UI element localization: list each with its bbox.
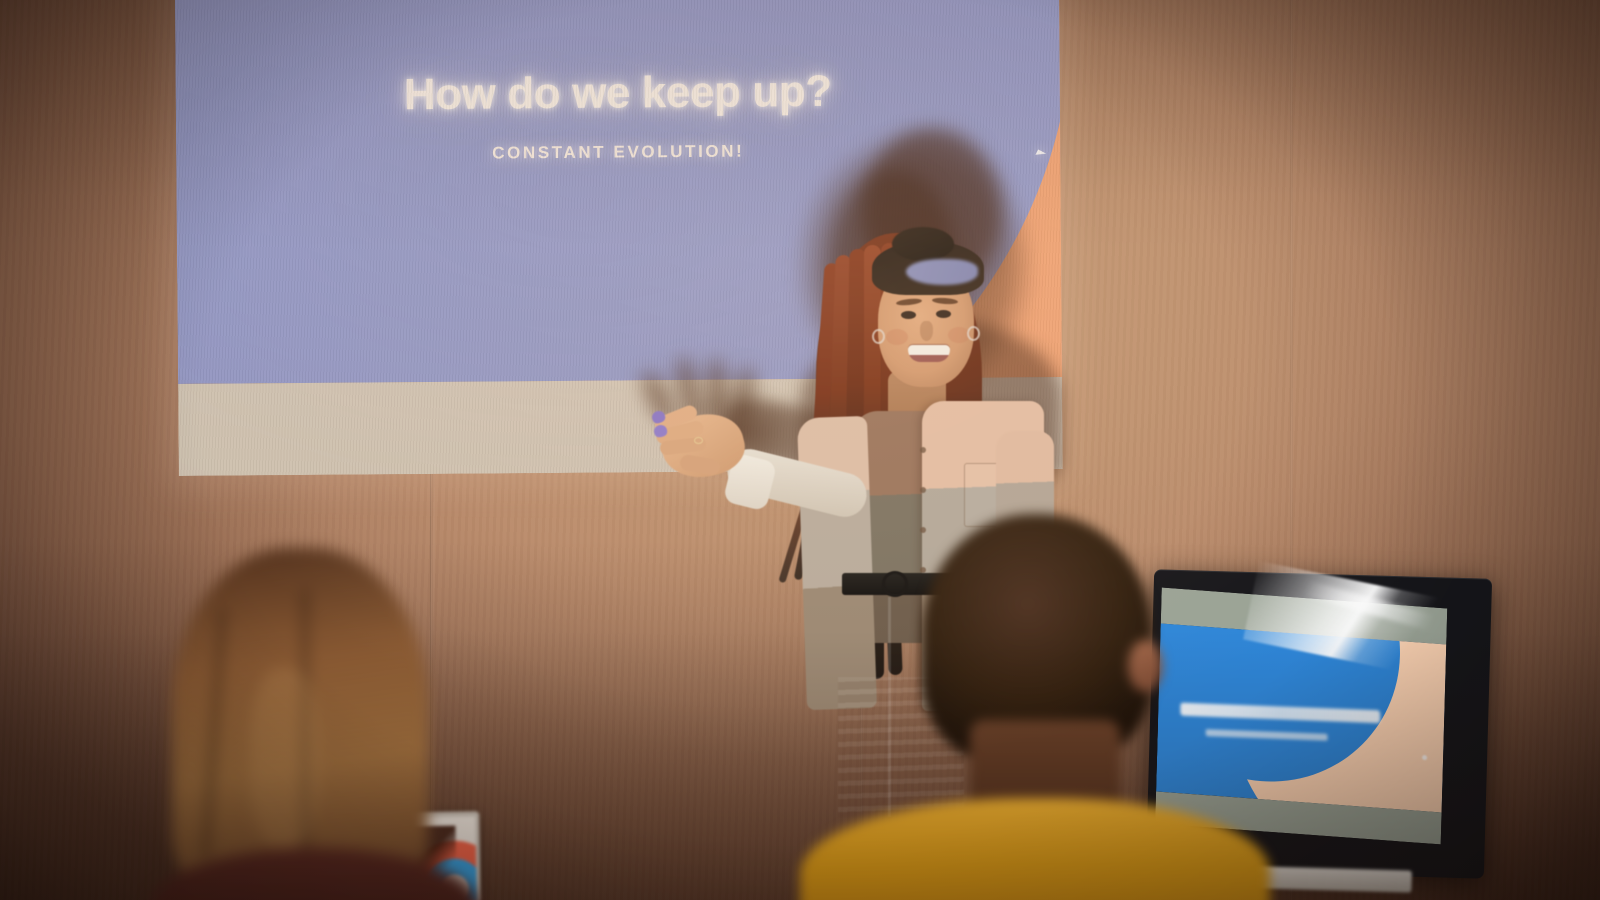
- hair-bun: [892, 227, 954, 261]
- photo-scene: How do we keep up? CONSTANT EVOLUTION!: [0, 0, 1600, 900]
- cheek-blush: [886, 329, 908, 345]
- ring: [694, 437, 703, 444]
- audience-member-right: [810, 500, 1280, 900]
- earring: [872, 329, 885, 344]
- hair-highlight: [250, 668, 320, 848]
- eye-right: [936, 310, 951, 318]
- nose: [920, 321, 933, 341]
- eye-left: [901, 311, 916, 319]
- monitor-cursor-dot: [1422, 755, 1427, 760]
- sweater: [800, 798, 1270, 900]
- shirt-button: [920, 447, 926, 453]
- ear: [1128, 640, 1162, 692]
- shirt-button: [920, 487, 926, 493]
- mouth-smile: [908, 345, 950, 362]
- hair-light-streak: [906, 259, 978, 285]
- earring: [967, 326, 980, 341]
- audience-member-left: [150, 548, 450, 900]
